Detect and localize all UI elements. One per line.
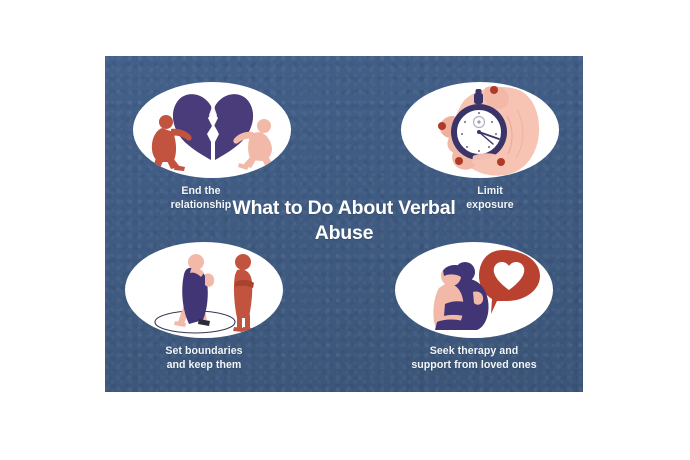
tip-card-end-relationship: End the relationship [119,82,305,213]
illustration-bubble-limit-exposure [401,82,559,178]
infographic: What to Do About Verbal Abuse [0,0,690,460]
broken-heart-icon [133,82,291,178]
tip-caption-set-boundaries: Set boundaries and keep them [111,345,297,373]
tip-caption-seek-therapy: Seek therapy and support from loved ones [374,345,574,373]
illustration-bubble-seek-therapy [395,242,553,338]
illustration-bubble-end-relationship [133,82,291,178]
tip-card-seek-therapy: Seek therapy and support from loved ones [381,242,567,373]
tip-card-set-boundaries: Set boundaries and keep them [111,242,297,373]
embrace-heart-bubble-icon [395,242,553,338]
illustration-bubble-set-boundaries [125,242,283,338]
boundary-circle-icon [125,242,283,338]
stopwatch-in-hand-icon [401,82,559,178]
tip-card-limit-exposure: Limit exposure [387,82,573,213]
page-title: What to Do About Verbal Abuse [229,196,459,246]
poster-panel: What to Do About Verbal Abuse [105,56,583,392]
